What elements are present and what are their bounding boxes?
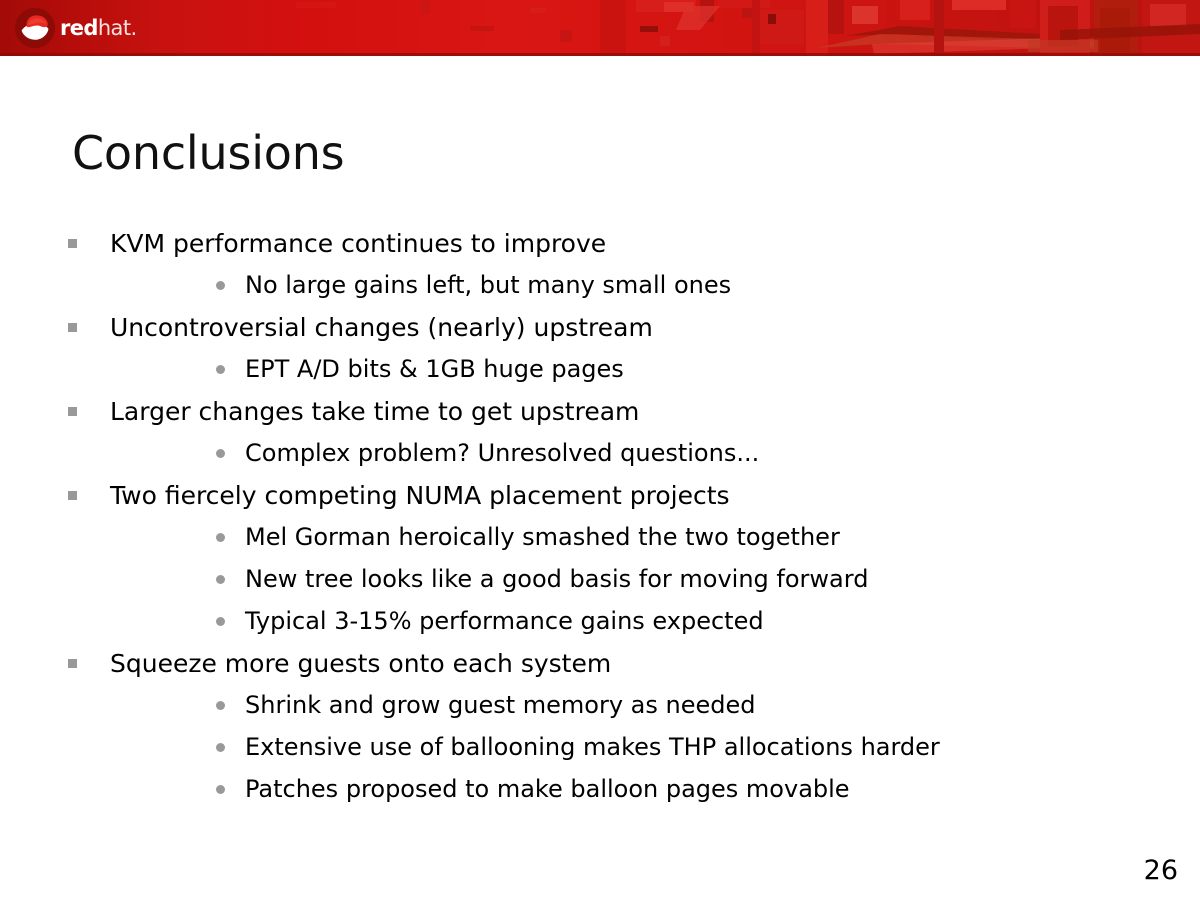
bullet-text: No large gains left, but many small ones	[245, 273, 731, 297]
bullet-text: Complex problem? Unresolved questions...	[245, 441, 759, 465]
bullet-row: Complex problem? Unresolved questions...	[0, 432, 1200, 474]
bullet-square-icon	[68, 407, 77, 416]
bullet-text: Typical 3-15% performance gains expected	[245, 609, 764, 633]
bullet-circle-icon	[216, 701, 225, 710]
wordmark-red: red	[60, 16, 98, 40]
bullet-list: KVM performance continues to improveNo l…	[0, 222, 1200, 810]
bullet-text: Squeeze more guests onto each system	[110, 651, 611, 676]
bullet-text: EPT A/D bits & 1GB huge pages	[245, 357, 624, 381]
bullet-circle-icon	[216, 575, 225, 584]
bullet-text: New tree looks like a good basis for mov…	[245, 567, 868, 591]
bullet-circle-icon	[216, 533, 225, 542]
bullet-circle-icon	[216, 365, 225, 374]
bullet-row: New tree looks like a good basis for mov…	[0, 558, 1200, 600]
banner-bottom-rule	[0, 53, 1200, 56]
banner-geometric-pattern	[0, 0, 1200, 56]
bullet-row: Shrink and grow guest memory as needed	[0, 684, 1200, 726]
bullet-text: Patches proposed to make balloon pages m…	[245, 777, 850, 801]
bullet-row: Larger changes take time to get upstream	[0, 390, 1200, 432]
bullet-row: Patches proposed to make balloon pages m…	[0, 768, 1200, 810]
bullet-row: No large gains left, but many small ones	[0, 264, 1200, 306]
page-title: Conclusions	[72, 128, 344, 179]
slide-header-banner: redhat.	[0, 0, 1200, 56]
bullet-row: Squeeze more guests onto each system	[0, 642, 1200, 684]
bullet-circle-icon	[216, 449, 225, 458]
bullet-square-icon	[68, 239, 77, 248]
redhat-logo: redhat.	[14, 7, 137, 49]
bullet-square-icon	[68, 659, 77, 668]
bullet-text: Mel Gorman heroically smashed the two to…	[245, 525, 840, 549]
redhat-wordmark: redhat.	[60, 18, 137, 39]
bullet-row: Extensive use of ballooning makes THP al…	[0, 726, 1200, 768]
bullet-row: Uncontroversial changes (nearly) upstrea…	[0, 306, 1200, 348]
bullet-row: KVM performance continues to improve	[0, 222, 1200, 264]
bullet-row: Two fiercely competing NUMA placement pr…	[0, 474, 1200, 516]
bullet-square-icon	[68, 323, 77, 332]
shadowman-icon	[14, 7, 56, 49]
bullet-text: Shrink and grow guest memory as needed	[245, 693, 756, 717]
bullet-circle-icon	[216, 785, 225, 794]
bullet-circle-icon	[216, 743, 225, 752]
bullet-text: Larger changes take time to get upstream	[110, 399, 639, 424]
bullet-circle-icon	[216, 281, 225, 290]
page-number: 26	[1144, 857, 1178, 884]
bullet-text: KVM performance continues to improve	[110, 231, 606, 256]
bullet-text: Uncontroversial changes (nearly) upstrea…	[110, 315, 653, 340]
bullet-text: Extensive use of ballooning makes THP al…	[245, 735, 940, 759]
bullet-square-icon	[68, 491, 77, 500]
bullet-text: Two fiercely competing NUMA placement pr…	[110, 483, 730, 508]
bullet-circle-icon	[216, 617, 225, 626]
bullet-row: Typical 3-15% performance gains expected	[0, 600, 1200, 642]
bullet-row: EPT A/D bits & 1GB huge pages	[0, 348, 1200, 390]
bullet-row: Mel Gorman heroically smashed the two to…	[0, 516, 1200, 558]
wordmark-hat: hat.	[98, 16, 137, 40]
